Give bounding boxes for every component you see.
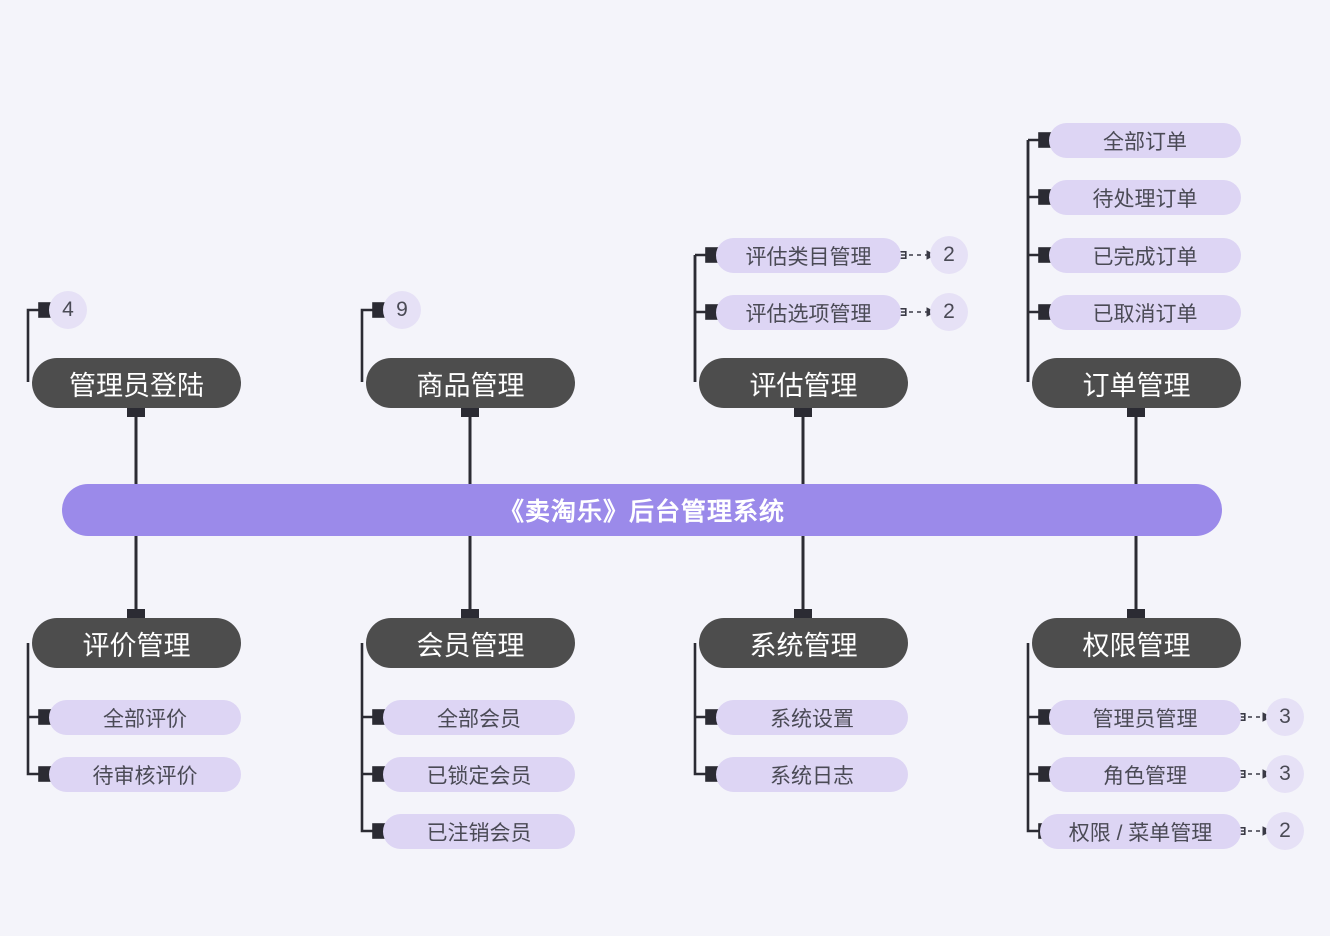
leaf-node-completed-orders[interactable]: 已完成订单 <box>1049 238 1241 273</box>
leaf-node-evaluation-category[interactable]: 评估类目管理 <box>716 238 901 273</box>
branch-node-admin-login[interactable]: 管理员登陆 <box>32 358 241 408</box>
branch-node-order-management[interactable]: 订单管理 <box>1032 358 1241 408</box>
leaf-node-all-members[interactable]: 全部会员 <box>383 700 575 735</box>
leaf-node-role-management[interactable]: 角色管理 <box>1049 757 1241 792</box>
badge-evaluation-category: 2 <box>930 236 968 274</box>
branch-node-review-management[interactable]: 评价管理 <box>32 618 241 668</box>
leaf-node-system-logs[interactable]: 系统日志 <box>716 757 908 792</box>
mindmap-canvas: 《卖淘乐》后台管理系统 管理员登陆 4 商品管理 9 评估管理 评估类目管理 2… <box>0 0 1330 936</box>
badge-permission-menu-management: 2 <box>1266 812 1304 850</box>
leaf-node-system-settings[interactable]: 系统设置 <box>716 700 908 735</box>
leaf-node-pending-orders[interactable]: 待处理订单 <box>1049 180 1241 215</box>
badge-role-management: 3 <box>1266 755 1304 793</box>
leaf-node-pending-reviews[interactable]: 待审核评价 <box>49 757 241 792</box>
badge-admin-login: 4 <box>49 291 87 329</box>
badge-product-management: 9 <box>383 291 421 329</box>
branch-node-system-management[interactable]: 系统管理 <box>699 618 908 668</box>
leaf-node-evaluation-option[interactable]: 评估选项管理 <box>716 295 901 330</box>
leaf-node-all-orders[interactable]: 全部订单 <box>1049 123 1241 158</box>
leaf-node-all-reviews[interactable]: 全部评价 <box>49 700 241 735</box>
branch-node-member-management[interactable]: 会员管理 <box>366 618 575 668</box>
branch-node-product-management[interactable]: 商品管理 <box>366 358 575 408</box>
leaf-node-cancelled-orders[interactable]: 已取消订单 <box>1049 295 1241 330</box>
branch-node-permission-management[interactable]: 权限管理 <box>1032 618 1241 668</box>
root-node-title[interactable]: 《卖淘乐》后台管理系统 <box>62 484 1222 536</box>
leaf-node-permission-menu-management[interactable]: 权限 / 菜单管理 <box>1040 814 1241 849</box>
leaf-node-admin-management[interactable]: 管理员管理 <box>1049 700 1241 735</box>
leaf-node-locked-members[interactable]: 已锁定会员 <box>383 757 575 792</box>
badge-admin-management: 3 <box>1266 698 1304 736</box>
leaf-node-deregistered-members[interactable]: 已注销会员 <box>383 814 575 849</box>
branch-node-evaluation-management[interactable]: 评估管理 <box>699 358 908 408</box>
badge-evaluation-option: 2 <box>930 293 968 331</box>
